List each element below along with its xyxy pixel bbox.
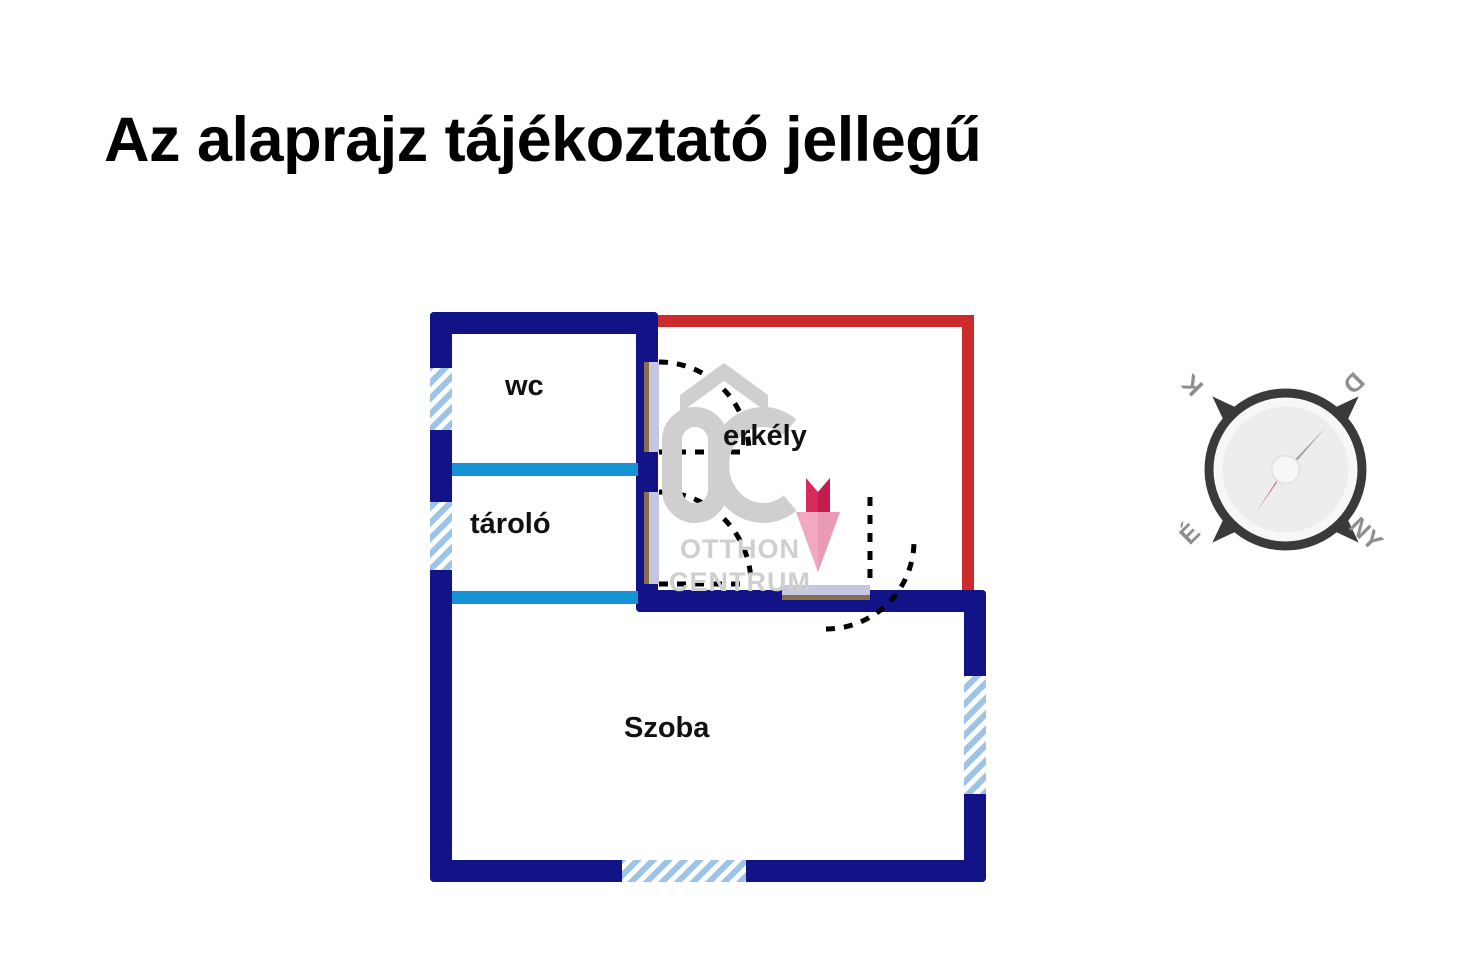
compass-rose: K D NY É bbox=[1178, 362, 1393, 577]
room-label-wc: wc bbox=[505, 370, 544, 403]
room-label-szoba: Szoba bbox=[624, 712, 709, 745]
floorplan-page: Az alaprajz tájékoztató jellegű bbox=[0, 0, 1460, 960]
room-label-erkely: erkély bbox=[723, 420, 807, 453]
door-entrance bbox=[782, 585, 870, 600]
compass-needle-hub bbox=[1272, 456, 1300, 484]
window-bottom-szoba bbox=[622, 860, 746, 882]
window-left-wc bbox=[430, 368, 452, 430]
partition-wc-taroló bbox=[452, 463, 638, 476]
room-label-taroló: tároló bbox=[470, 508, 551, 541]
door-wc bbox=[644, 362, 659, 452]
partition-taroló-szoba bbox=[452, 591, 638, 604]
window-right-szoba bbox=[964, 676, 986, 794]
window-left-taroló bbox=[430, 502, 452, 570]
door-taroló bbox=[644, 492, 659, 584]
